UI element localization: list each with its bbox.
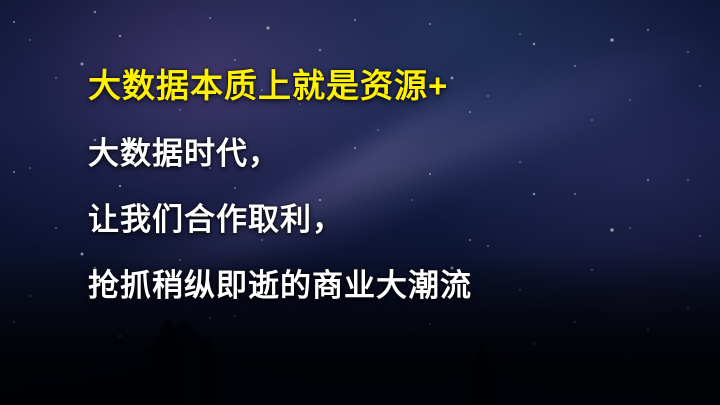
slide-title: 大数据本质上就是资源+ xyxy=(88,62,688,110)
slide-body-line-2: 让我们合作取利， xyxy=(88,197,688,243)
slide-text-block: 大数据本质上就是资源+ 大数据时代， 让我们合作取利， 抢抓稍纵即逝的商业大潮流 xyxy=(88,62,688,309)
slide-body-line-3: 抢抓稍纵即逝的商业大潮流 xyxy=(88,263,688,309)
slide-body-line-1: 大数据时代， xyxy=(88,131,688,177)
slide-canvas: 大数据本质上就是资源+ 大数据时代， 让我们合作取利， 抢抓稍纵即逝的商业大潮流 xyxy=(0,0,720,405)
